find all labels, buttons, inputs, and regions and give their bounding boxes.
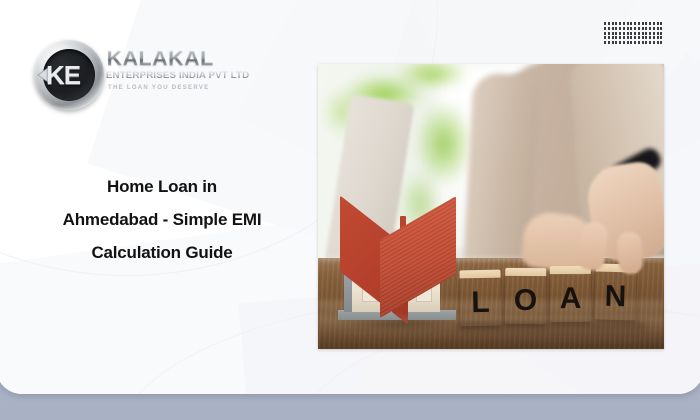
hero-photo: L O A N [318,64,664,349]
dot [653,41,655,44]
dot [615,22,617,25]
dot [649,27,651,30]
dot [615,32,617,35]
page-title: Home Loan in Ahmedabad - Simple EMI Calc… [44,170,280,269]
dot [630,36,632,39]
dot [627,22,629,25]
dot [623,36,625,39]
photo-desk-reflection [318,316,664,349]
photo-model-house [338,216,462,324]
dot [653,27,655,30]
dot [604,32,606,35]
dot [612,27,614,30]
logo-wordmark: KALAKAL ENTERPRISES INDIA PVT LTD THE LO… [108,48,248,93]
dot [657,41,659,44]
page-title-line-2: Ahmedabad - Simple EMI [44,203,280,236]
slide-canvas: KE KALAKAL ENTERPRISES INDIA PVT LTD THE… [0,0,700,420]
dot [649,32,651,35]
dot [642,27,644,30]
dot [623,41,625,44]
dot [608,27,610,30]
dot [623,27,625,30]
dot [645,36,647,39]
dot [642,22,644,25]
dot [630,41,632,44]
dot [642,36,644,39]
dot [608,41,610,44]
dot [604,22,606,25]
logo-brand-name: KALAKAL [107,48,250,69]
dot [619,41,621,44]
dot [649,36,651,39]
dot-grid-decoration [604,22,664,46]
dot [657,32,659,35]
dot [612,41,614,44]
dot [615,41,617,44]
dot [619,22,621,25]
dot [660,36,662,39]
dot [619,32,621,35]
dot [623,32,625,35]
dot [660,41,662,44]
logo-monogram: KE [46,60,102,90]
dot [630,22,632,25]
dot [615,27,617,30]
dot [608,36,610,39]
content-card: KE KALAKAL ENTERPRISES INDIA PVT LTD THE… [0,0,700,394]
photo-block-letter: N [594,269,636,320]
dot [634,32,636,35]
photo-block-letter: A [550,272,591,322]
dot [634,22,636,25]
dot [627,32,629,35]
dot [653,36,655,39]
logo-tagline: THE LOAN YOU DESERVE [108,83,248,93]
dot [604,41,606,44]
dot [653,32,655,35]
dot [634,41,636,44]
dot [612,36,614,39]
dot [608,32,610,35]
dot [653,22,655,25]
dot [634,27,636,30]
dot [638,27,640,30]
dot [615,36,617,39]
dot [638,32,640,35]
dot [619,27,621,30]
dot [623,22,625,25]
dot [627,36,629,39]
dot [638,22,640,25]
dot [660,22,662,25]
dot [657,27,659,30]
dot [642,32,644,35]
dot [660,32,662,35]
dot [634,36,636,39]
dot [657,22,659,25]
dot [627,27,629,30]
dot [608,22,610,25]
page-title-line-1: Home Loan in [44,170,280,203]
photo-right-middle-finger [617,231,644,275]
dot [638,41,640,44]
page-title-line-3: Calculation Guide [44,236,280,269]
dot [649,22,651,25]
dot [630,27,632,30]
dot [627,41,629,44]
dot [604,36,606,39]
dot [645,27,647,30]
dot [612,22,614,25]
dot [645,41,647,44]
dot [630,32,632,35]
company-logo: KE KALAKAL ENTERPRISES INDIA PVT LTD THE… [34,38,244,112]
logo-brand-subtitle: ENTERPRISES INDIA PVT LTD [106,70,250,82]
dot [645,32,647,35]
dot [660,27,662,30]
dot [604,27,606,30]
dot [619,36,621,39]
dot [612,32,614,35]
dot [649,41,651,44]
dot [642,41,644,44]
dot [645,22,647,25]
dot [638,36,640,39]
dot [657,36,659,39]
